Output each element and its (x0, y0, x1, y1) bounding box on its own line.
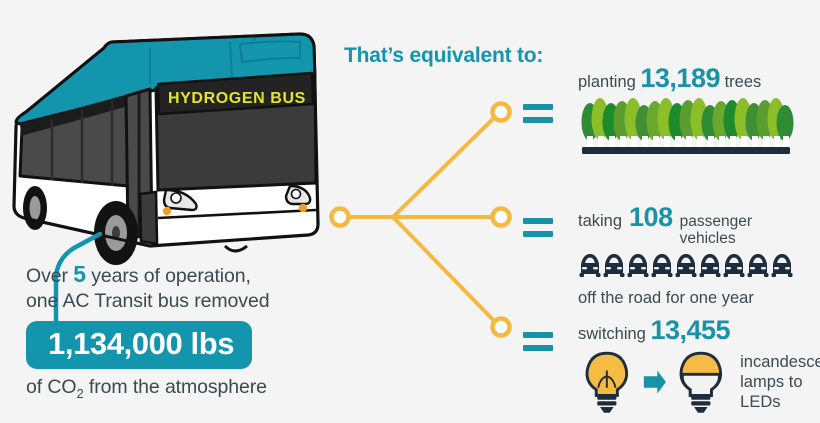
cars-text-pre: taking (578, 211, 622, 231)
caption-line-1: Over 5 years of operation, (26, 262, 326, 289)
co2-subscript: 2 (76, 386, 83, 401)
cars-text: taking 108 passenger vehicles (578, 202, 798, 247)
equals-sign-bulbs (523, 332, 553, 351)
caption-sub-line: of CO2 from the atmosphere (26, 375, 326, 406)
bulbs-text-pre: switching (578, 325, 650, 343)
trees-text-pre: planting (578, 73, 640, 91)
bulbs-label-line1: incandescent (740, 352, 820, 372)
cars-label-line1: passenger (680, 213, 752, 230)
cars-stacked-label: passenger vehicles (680, 213, 752, 247)
led-bulb-icon (672, 348, 730, 416)
tree-row-icon (578, 96, 796, 163)
arrow-right-icon (640, 367, 669, 397)
equals-sign-cars (523, 218, 553, 237)
equals-sign-trees (523, 104, 553, 123)
caption-line-2: one AC Transit bus removed (26, 289, 326, 314)
incandescent-bulb-icon (578, 348, 636, 416)
connector-node-bulbs (493, 319, 510, 336)
row-bulbs: switching 13,455 incandescent (578, 320, 820, 416)
car-front-icon-row (578, 252, 798, 285)
infographic-canvas: HYDROGEN BUS (0, 0, 820, 423)
caption-years-number: 5 (73, 261, 86, 287)
caption-sub-pre: of CO (26, 376, 76, 398)
cars-footer-text: off the road for one year (578, 289, 798, 308)
row-cars: taking 108 passenger vehicles (578, 202, 798, 308)
equivalent-headline: That’s equivalent to: (344, 44, 543, 68)
connector-node-trees (493, 104, 510, 121)
trees-text: planting 13,189 trees (578, 68, 796, 92)
bulbs-label-line2: lamps to LEDs (740, 372, 820, 412)
row-trees: planting 13,189 trees (578, 68, 796, 163)
bulbs-count: 13,455 (650, 315, 730, 345)
co2-amount-badge: 1,134,000 lbs (26, 321, 252, 369)
caption-sub-post: from the atmosphere (84, 376, 267, 398)
branch-connector (325, 95, 525, 360)
bulbs-label: incandescent lamps to LEDs (740, 352, 820, 412)
bus-caption-block: Over 5 years of operation, one AC Transi… (26, 262, 326, 406)
trees-count: 13,189 (640, 63, 720, 93)
caption-line1-post: years of operation, (86, 265, 251, 287)
caption-line1-pre: Over (26, 265, 73, 287)
bus-destination-sign: HYDROGEN BUS (168, 90, 306, 107)
connector-node-cars (493, 209, 510, 226)
bulbs-text: switching 13,455 (578, 320, 820, 344)
trees-text-post: trees (720, 73, 761, 91)
cars-label-line2: vehicles (680, 230, 752, 247)
connector-node-root (332, 209, 349, 226)
cars-count: 108 (629, 202, 673, 233)
